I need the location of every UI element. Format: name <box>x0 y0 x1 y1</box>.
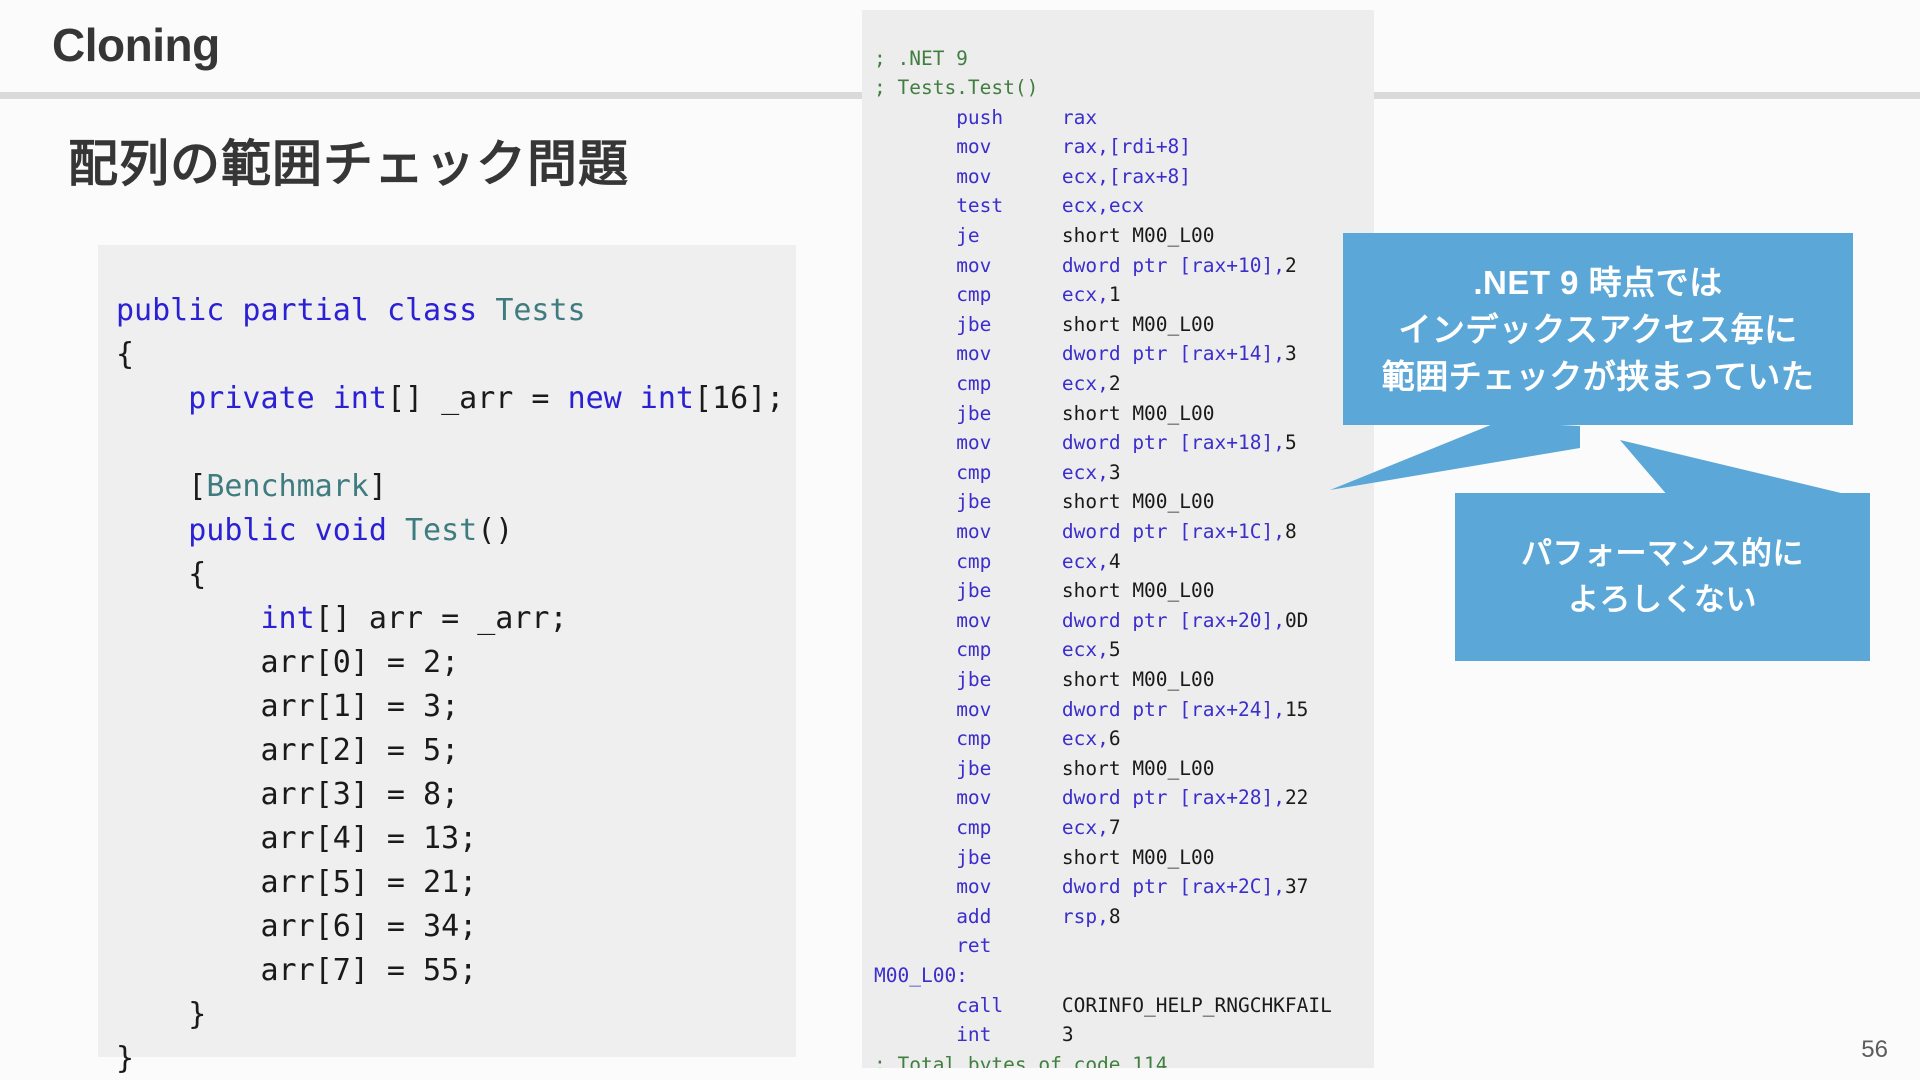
page-number: 56 <box>1861 1036 1888 1064</box>
csharp-code-block: public partial class Tests { private int… <box>116 289 796 1080</box>
csharp-code-panel: public partial class Tests { private int… <box>98 245 796 1057</box>
callout-one-text: .NET 9 時点では インデックスアクセス毎に 範囲チェックが挟まっていた <box>1382 259 1815 400</box>
section-heading: 配列の範囲チェック問題 <box>68 124 629 196</box>
callout-two-text: パフォーマンス的に よろしくない <box>1521 531 1804 623</box>
callout-net9-rangecheck: .NET 9 時点では インデックスアクセス毎に 範囲チェックが挟まっていた <box>1343 233 1853 425</box>
assembly-code-panel: ; .NET 9 ; Tests.Test() push rax mov rax… <box>862 10 1374 1068</box>
assembly-code-block: ; .NET 9 ; Tests.Test() push rax mov rax… <box>874 44 1374 1069</box>
callout-performance-warning: パフォーマンス的に よろしくない <box>1455 493 1870 661</box>
page-title: Cloning <box>52 18 220 72</box>
